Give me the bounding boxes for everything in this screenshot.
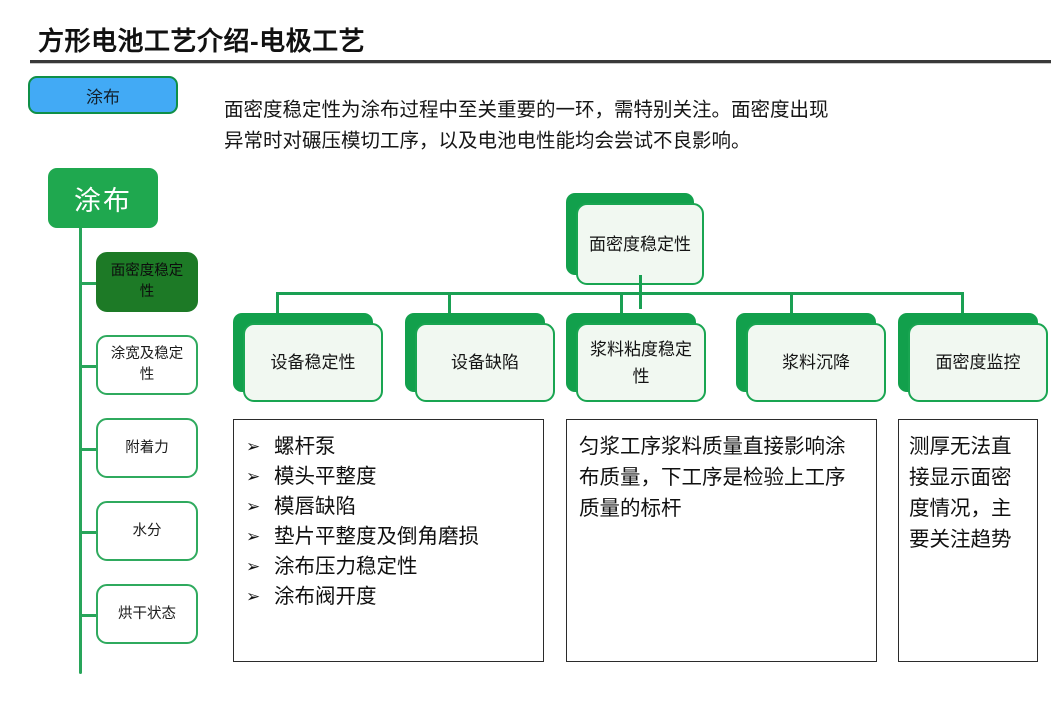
note-box-middle: 匀浆工序浆料质量直接影响涂布质量，下工序是检验上工序质量的标杆 [566,419,877,662]
org-child-node-1[interactable]: 设备稳定性 [233,313,373,392]
list-item-label: 涂布阀开度 [274,585,377,608]
slide-canvas: 方形电池工艺介绍-电极工艺 涂布 面密度稳定性为涂布过程中至关重要的一环，需特别… [0,0,1051,727]
note-middle-text: 匀浆工序浆料质量直接影响涂布质量，下工序是检验上工序质量的标杆 [579,431,864,524]
org-child-label: 浆料沉降 [782,349,850,376]
list-item: ➢ 模头平整度 [240,462,533,492]
arrow-bullet-icon: ➢ [246,582,260,612]
list-item-label: 螺杆泵 [274,435,336,458]
org-root-node[interactable]: 面密度稳定性 [566,193,694,275]
arrow-bullet-icon: ➢ [246,432,260,462]
list-item-label: 模头平整度 [274,465,377,488]
arrow-bullet-icon: ➢ [246,462,260,492]
org-child-node-2[interactable]: 设备缺陷 [405,313,545,392]
org-child-node-5[interactable]: 面密度监控 [898,313,1038,392]
list-item-label: 模唇缺陷 [274,495,356,518]
list-item: ➢ 模唇缺陷 [240,492,533,522]
note-left-bullet-list: ➢ 螺杆泵 ➢ 模头平整度 ➢ 模唇缺陷 ➢ 垫片平整度及倒角磨损 ➢ 涂布压力… [240,432,533,612]
org-child-label: 面密度监控 [936,349,1021,376]
note-box-left: ➢ 螺杆泵 ➢ 模头平整度 ➢ 模唇缺陷 ➢ 垫片平整度及倒角磨损 ➢ 涂布压力… [233,419,544,662]
list-item: ➢ 涂布压力稳定性 [240,552,533,582]
note-right-text: 测厚无法直接显示面密度情况，主要关注趋势 [909,431,1027,555]
note-box-right: 测厚无法直接显示面密度情况，主要关注趋势 [898,419,1038,662]
list-item-label: 涂布压力稳定性 [274,555,418,578]
org-child-node-3[interactable]: 浆料粘度稳定性 [566,313,696,392]
org-node-face: 设备稳定性 [243,323,383,402]
list-item-label: 垫片平整度及倒角磨损 [274,525,479,548]
arrow-bullet-icon: ➢ [246,492,260,522]
arrow-bullet-icon: ➢ [246,522,260,552]
list-item: ➢ 螺杆泵 [240,432,533,462]
org-node-face: 面密度稳定性 [576,203,704,285]
list-item: ➢ 涂布阀开度 [240,582,533,612]
org-child-label: 设备缺陷 [451,349,519,376]
list-item: ➢ 垫片平整度及倒角磨损 [240,522,533,552]
org-root-label: 面密度稳定性 [589,231,691,258]
org-node-face: 设备缺陷 [415,323,555,402]
org-node-face: 浆料粘度稳定性 [576,323,706,402]
org-node-face: 面密度监控 [908,323,1048,402]
arrow-bullet-icon: ➢ [246,552,260,582]
org-child-label: 设备稳定性 [271,349,356,376]
org-child-label: 浆料粘度稳定性 [586,336,696,390]
org-child-node-4[interactable]: 浆料沉降 [736,313,876,392]
org-node-face: 浆料沉降 [746,323,886,402]
